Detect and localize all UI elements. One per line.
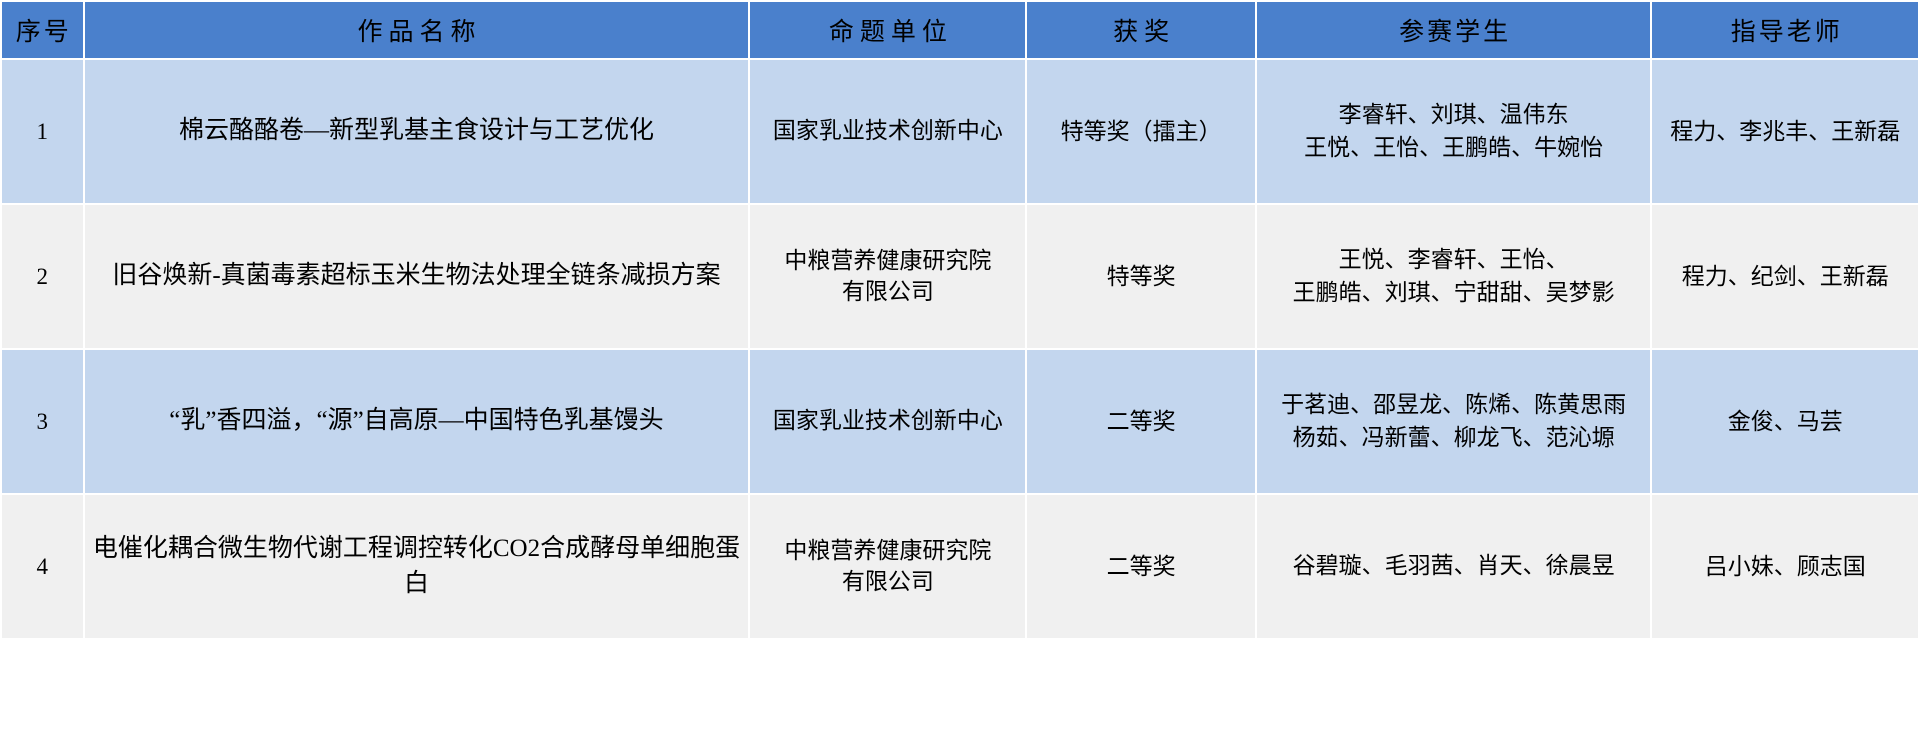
table-body: 1 棉云酪酪卷—新型乳基主食设计与工艺优化 国家乳业技术创新中心 特等奖（擂主）… xyxy=(2,60,1918,638)
cell-award: 特等奖（擂主） xyxy=(1027,60,1255,203)
cell-teachers: 吕小妹、顾志国 xyxy=(1652,495,1918,638)
table-header: 序号 作品名称 命题单位 获奖 参赛学生 指导老师 xyxy=(2,2,1918,58)
table-row: 2 旧谷焕新-真菌毒素超标玉米生物法处理全链条减损方案 中粮营养健康研究院 有限… xyxy=(2,205,1918,348)
cell-unit: 国家乳业技术创新中心 xyxy=(750,350,1025,493)
column-header-students: 参赛学生 xyxy=(1257,2,1651,58)
table-row: 1 棉云酪酪卷—新型乳基主食设计与工艺优化 国家乳业技术创新中心 特等奖（擂主）… xyxy=(2,60,1918,203)
cell-award: 特等奖 xyxy=(1027,205,1255,348)
cell-students: 于茗迪、邵昱龙、陈烯、陈黄思雨 杨茹、冯新蕾、柳龙飞、范沁塬 xyxy=(1257,350,1651,493)
cell-title: “乳”香四溢，“源”自高原—中国特色乳基馒头 xyxy=(85,350,749,493)
cell-students: 谷碧璇、毛羽茜、肖天、徐晨昱 xyxy=(1257,495,1651,638)
column-header-teachers: 指导老师 xyxy=(1652,2,1918,58)
cell-unit: 中粮营养健康研究院 有限公司 xyxy=(750,495,1025,638)
cell-teachers: 程力、李兆丰、王新磊 xyxy=(1652,60,1918,203)
cell-unit: 中粮营养健康研究院 有限公司 xyxy=(750,205,1025,348)
cell-index: 2 xyxy=(2,205,83,348)
column-header-award: 获奖 xyxy=(1027,2,1255,58)
cell-students: 李睿轩、刘琪、温伟东 王悦、王怡、王鹏皓、牛婉怡 xyxy=(1257,60,1651,203)
cell-teachers: 金俊、马芸 xyxy=(1652,350,1918,493)
cell-title: 旧谷焕新-真菌毒素超标玉米生物法处理全链条减损方案 xyxy=(85,205,749,348)
column-header-title: 作品名称 xyxy=(85,2,749,58)
award-results-table: 序号 作品名称 命题单位 获奖 参赛学生 指导老师 1 棉云酪酪卷—新型乳基主食… xyxy=(0,0,1920,640)
cell-award: 二等奖 xyxy=(1027,495,1255,638)
cell-title: 电催化耦合微生物代谢工程调控转化CO2合成酵母单细胞蛋白 xyxy=(85,495,749,638)
table-row: 4 电催化耦合微生物代谢工程调控转化CO2合成酵母单细胞蛋白 中粮营养健康研究院… xyxy=(2,495,1918,638)
cell-index: 1 xyxy=(2,60,83,203)
cell-index: 4 xyxy=(2,495,83,638)
cell-title: 棉云酪酪卷—新型乳基主食设计与工艺优化 xyxy=(85,60,749,203)
cell-students: 王悦、李睿轩、王怡、 王鹏皓、刘琪、宁甜甜、吴梦影 xyxy=(1257,205,1651,348)
cell-teachers: 程力、纪剑、王新磊 xyxy=(1652,205,1918,348)
header-row: 序号 作品名称 命题单位 获奖 参赛学生 指导老师 xyxy=(2,2,1918,58)
cell-unit: 国家乳业技术创新中心 xyxy=(750,60,1025,203)
cell-index: 3 xyxy=(2,350,83,493)
cell-award: 二等奖 xyxy=(1027,350,1255,493)
column-header-unit: 命题单位 xyxy=(750,2,1025,58)
column-header-index: 序号 xyxy=(2,2,83,58)
table-row: 3 “乳”香四溢，“源”自高原—中国特色乳基馒头 国家乳业技术创新中心 二等奖 … xyxy=(2,350,1918,493)
